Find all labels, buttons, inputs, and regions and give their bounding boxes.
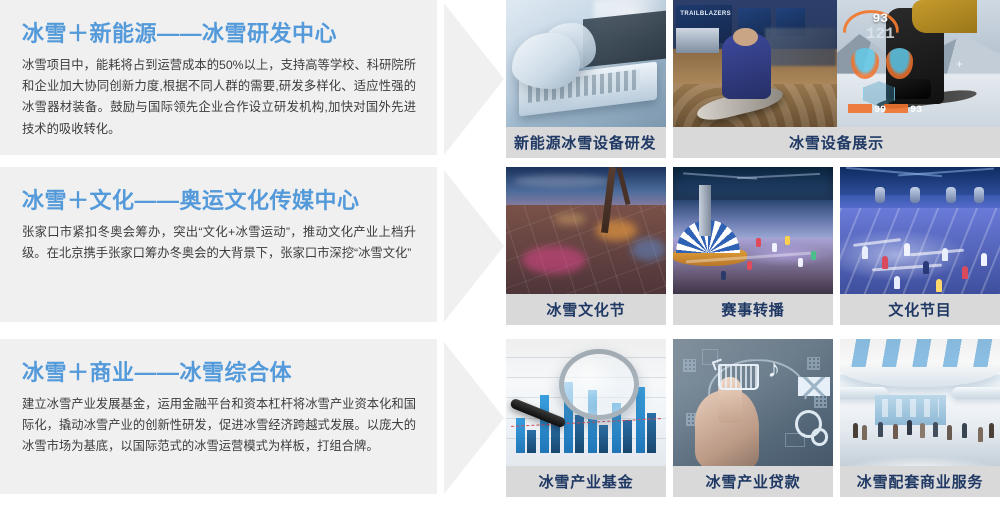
card-group-1: 新能源冰雪设备研发	[506, 0, 1000, 158]
thumbnail-indoor-arena	[673, 167, 833, 294]
infographic-page: 冰雪＋新能源——冰雪研发中心 冰雪项目中，能耗将占到运营成本的50%以上，支持高…	[0, 0, 1000, 511]
thumbnail-shopping-mall	[840, 339, 1000, 466]
image-card-equipment-demo[interactable]: 93 121 99 93 + 冰雪设备展示	[673, 0, 1000, 158]
card-caption: 文化节目	[840, 294, 1000, 325]
card-caption: 冰雪文化节	[506, 294, 666, 325]
card-group-3: 冰雪产业基金	[506, 339, 1000, 497]
text-panel-1: 冰雪＋新能源——冰雪研发中心 冰雪项目中，能耗将占到运营成本的50%以上，支持高…	[0, 0, 437, 155]
section-body-3: 建立冰雪产业发展基金，运用金融平台和资本杠杆将冰雪产业资本化和国际化，撬动冰雪产…	[22, 394, 416, 457]
arrow-right-icon-1	[444, 3, 504, 155]
section-title-2: 冰雪＋文化——奥运文化传媒中心	[22, 189, 411, 213]
card-group-2: 冰雪文化节	[506, 167, 1000, 325]
card-caption: 赛事转播	[673, 294, 833, 325]
card-caption: 冰雪配套商业服务	[840, 466, 1000, 497]
snowboard-simulator-photo: 93 121 99 93 +	[673, 0, 1000, 127]
ice-rink-skaters-photo	[840, 167, 1000, 294]
thumbnail-laptop-typing	[506, 0, 666, 127]
laptop-typing-photo	[506, 0, 666, 127]
image-card-event-broadcast[interactable]: 赛事转播	[673, 167, 833, 325]
card-caption: 冰雪产业基金	[506, 466, 666, 497]
hand-digital-icons-photo	[673, 339, 833, 466]
section-body-1: 冰雪项目中，能耗将占到运营成本的50%以上，支持高等学校、科研院所和企业加大协同…	[22, 55, 416, 140]
section-title-3: 冰雪＋商业——冰雪综合体	[22, 361, 411, 385]
section-row-2: 冰雪＋文化——奥运文化传媒中心 张家口市紧扣冬奥会筹办，突出“文化+冰雪运动”，…	[0, 167, 1000, 327]
section-row-3: 冰雪＋商业——冰雪综合体 建立冰雪产业发展基金，运用金融平台和资本杠杆将冰雪产业…	[0, 339, 1000, 504]
night-festival-aerial-photo	[506, 167, 666, 294]
image-card-ice-culture-festival[interactable]: 冰雪文化节	[506, 167, 666, 325]
section-body-2: 张家口市紧扣冬奥会筹办，突出“文化+冰雪运动”，推动文化产业上档升级。在北京携手…	[22, 222, 416, 264]
thumbnail-magnifier-chart	[506, 339, 666, 466]
text-panel-2: 冰雪＋文化——奥运文化传媒中心 张家口市紧扣冬奥会筹办，突出“文化+冰雪运动”，…	[0, 167, 437, 322]
card-caption: 冰雪设备展示	[673, 127, 1000, 158]
image-card-culture-program[interactable]: 文化节目	[840, 167, 1000, 325]
card-caption: 冰雪产业贷款	[673, 466, 833, 497]
hud-right-stat: 93	[910, 105, 922, 116]
card-caption: 新能源冰雪设备研发	[506, 127, 666, 158]
thumbnail-hand-digital-icons	[673, 339, 833, 466]
image-card-industry-fund[interactable]: 冰雪产业基金	[506, 339, 666, 497]
hud-speed-value: 93	[872, 11, 888, 26]
arrow-right-icon-3	[444, 342, 504, 494]
hud-secondary-value: 121	[866, 25, 895, 43]
shopping-mall-atrium-photo	[840, 339, 1000, 466]
thumbnail-ice-rink	[840, 167, 1000, 294]
hud-left-stat: 99	[874, 105, 886, 116]
section-row-1: 冰雪＋新能源——冰雪研发中心 冰雪项目中，能耗将占到运营成本的50%以上，支持高…	[0, 0, 1000, 160]
image-card-industry-loan[interactable]: 冰雪产业贷款	[673, 339, 833, 497]
arrow-right-icon-2	[444, 170, 504, 322]
text-panel-3: 冰雪＋商业——冰雪综合体 建立冰雪产业发展基金，运用金融平台和资本杠杆将冰雪产业…	[0, 339, 437, 494]
indoor-arena-carousel-photo	[673, 167, 833, 294]
magnifier-bar-chart-photo	[506, 339, 666, 466]
image-card-commercial-services[interactable]: 冰雪配套商业服务	[840, 339, 1000, 497]
section-title-1: 冰雪＋新能源——冰雪研发中心	[22, 22, 411, 46]
image-card-new-energy-rnd[interactable]: 新能源冰雪设备研发	[506, 0, 666, 158]
thumbnail-snowboard-simulator: 93 121 99 93 +	[673, 0, 1000, 127]
thumbnail-night-festival	[506, 167, 666, 294]
crosshair-icon: +	[956, 57, 963, 71]
